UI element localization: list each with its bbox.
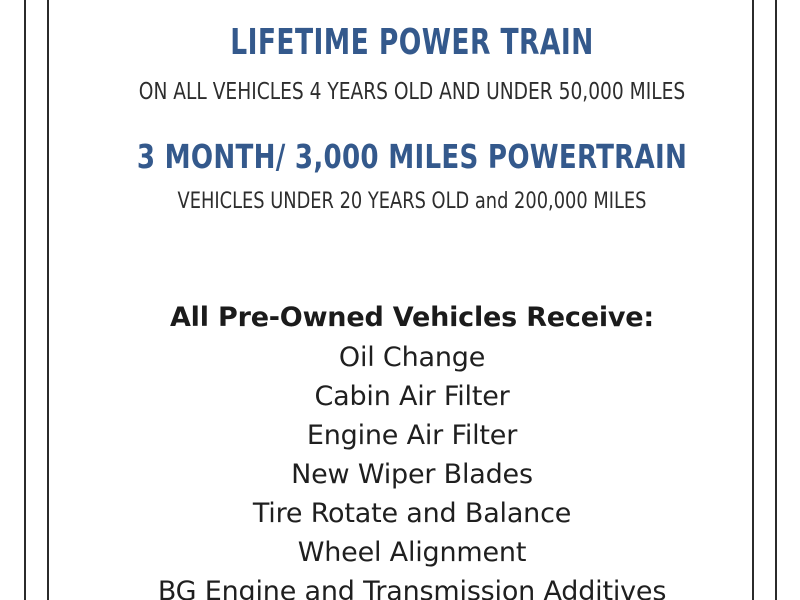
services-section: All Pre-Owned Vehicles Receive: Oil Chan…: [49, 300, 775, 600]
warranty-headline-three-month: 3 MONTH/ 3,000 MILES POWERTRAIN: [93, 136, 732, 178]
warranty-block-lifetime: LIFETIME POWER TRAIN ON ALL VEHICLES 4 Y…: [49, 22, 775, 106]
warranty-subline-lifetime: ON ALL VEHICLES 4 YEARS OLD AND UNDER 50…: [85, 78, 738, 106]
warranty-subline-three-month: VEHICLES UNDER 20 YEARS OLD and 200,000 …: [85, 188, 738, 216]
list-item: Engine Air Filter: [49, 416, 775, 455]
frame-rule-right-outer: [775, 0, 777, 600]
list-item: New Wiper Blades: [49, 455, 775, 494]
frame-rule-left-outer: [24, 0, 26, 600]
flyer-content: LIFETIME POWER TRAIN ON ALL VEHICLES 4 Y…: [49, 0, 775, 600]
list-item: BG Engine and Transmission Additives: [49, 572, 775, 600]
warranty-headline-lifetime: LIFETIME POWER TRAIN: [114, 22, 709, 64]
warranty-block-three-month: 3 MONTH/ 3,000 MILES POWERTRAIN VEHICLES…: [49, 136, 775, 216]
list-item: Oil Change: [49, 338, 775, 377]
services-heading: All Pre-Owned Vehicles Receive:: [49, 300, 775, 336]
promotional-flyer: LIFETIME POWER TRAIN ON ALL VEHICLES 4 Y…: [0, 0, 800, 600]
list-item: Tire Rotate and Balance: [49, 494, 775, 533]
list-item: Cabin Air Filter: [49, 377, 775, 416]
list-item: Wheel Alignment: [49, 533, 775, 572]
